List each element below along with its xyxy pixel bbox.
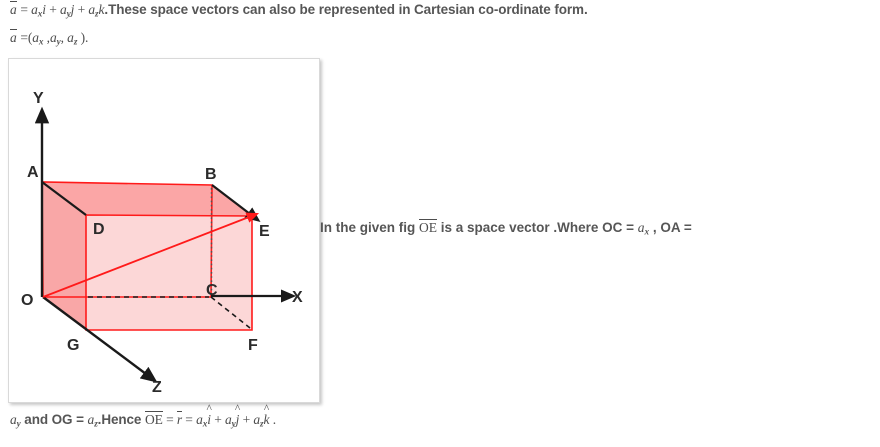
i-hat-1: i — [42, 2, 46, 18]
az-base-2: a — [67, 30, 74, 45]
equals-sign-1: = — [20, 2, 31, 17]
j-hat-bottom: j — [236, 412, 240, 428]
vector-OE-label-right: OE — [419, 219, 437, 236]
bottom-mid-1: and OG = — [21, 412, 88, 427]
caption-after: , OA = — [649, 220, 692, 235]
j-hat-1: j — [71, 2, 75, 18]
k-hat-1: k — [99, 2, 105, 18]
tx-base: a — [196, 412, 203, 427]
figure-container: Y X Z A B D E O C G F — [8, 58, 320, 403]
plus-sign-2: + — [74, 2, 88, 17]
line1-prose: .These space vectors can also be represe… — [104, 2, 587, 17]
bottom-eq-2: = — [182, 412, 196, 427]
vector-OE-label-bottom: OE — [145, 411, 163, 428]
face-front-DEFG — [86, 215, 252, 330]
label-Z: Z — [152, 379, 162, 396]
close-paren-group: ). — [77, 30, 88, 45]
ax-base-2: a — [32, 30, 39, 45]
space-vector-cuboid-diagram: Y X Z A B D E O C G F — [9, 59, 319, 402]
open-paren-group: =( — [20, 30, 32, 45]
ax-base-1: a — [31, 2, 38, 17]
equation-line-1: a = axi + ayj + azk.These space vectors … — [10, 2, 588, 18]
bottom-plus-2: + — [239, 412, 253, 427]
bottom-eq-1: = — [163, 412, 177, 427]
vector-r-symbol: r — [177, 412, 182, 428]
bottom-mid-2: .Hence — [98, 412, 145, 427]
label-C: C — [206, 282, 218, 299]
label-D: D — [93, 221, 105, 238]
ay-base-bottom: a — [10, 412, 17, 427]
figure-caption-right: In the given fig OE is a space vector .W… — [320, 219, 692, 236]
bottom-plus-1: + — [211, 412, 225, 427]
k-hat-bottom: k — [264, 412, 270, 428]
ay-base-2: a — [50, 30, 57, 45]
label-G: G — [67, 337, 79, 354]
label-X: X — [292, 289, 303, 306]
ay-base-1: a — [60, 2, 67, 17]
vector-a-symbol-2: a — [10, 30, 17, 46]
label-E: E — [259, 223, 270, 240]
i-hat-bottom: i — [207, 412, 211, 428]
equation-line-bottom: ay and OG = az.Hence OE = r = axi + ayj … — [10, 411, 276, 428]
ty-base: a — [225, 412, 232, 427]
plus-sign-1: + — [46, 2, 60, 17]
label-Y: Y — [33, 90, 44, 107]
label-O: O — [21, 292, 33, 309]
caption-before: In the given fig — [320, 220, 419, 235]
vector-a-symbol: a — [10, 2, 17, 18]
bottom-period: . — [269, 412, 276, 427]
equation-line-2: a =(ax ,ay, az ). — [10, 30, 88, 46]
label-F: F — [248, 337, 258, 354]
label-A: A — [27, 164, 39, 181]
label-B: B — [205, 166, 217, 183]
caption-middle: is a space vector .Where OC = — [437, 220, 638, 235]
